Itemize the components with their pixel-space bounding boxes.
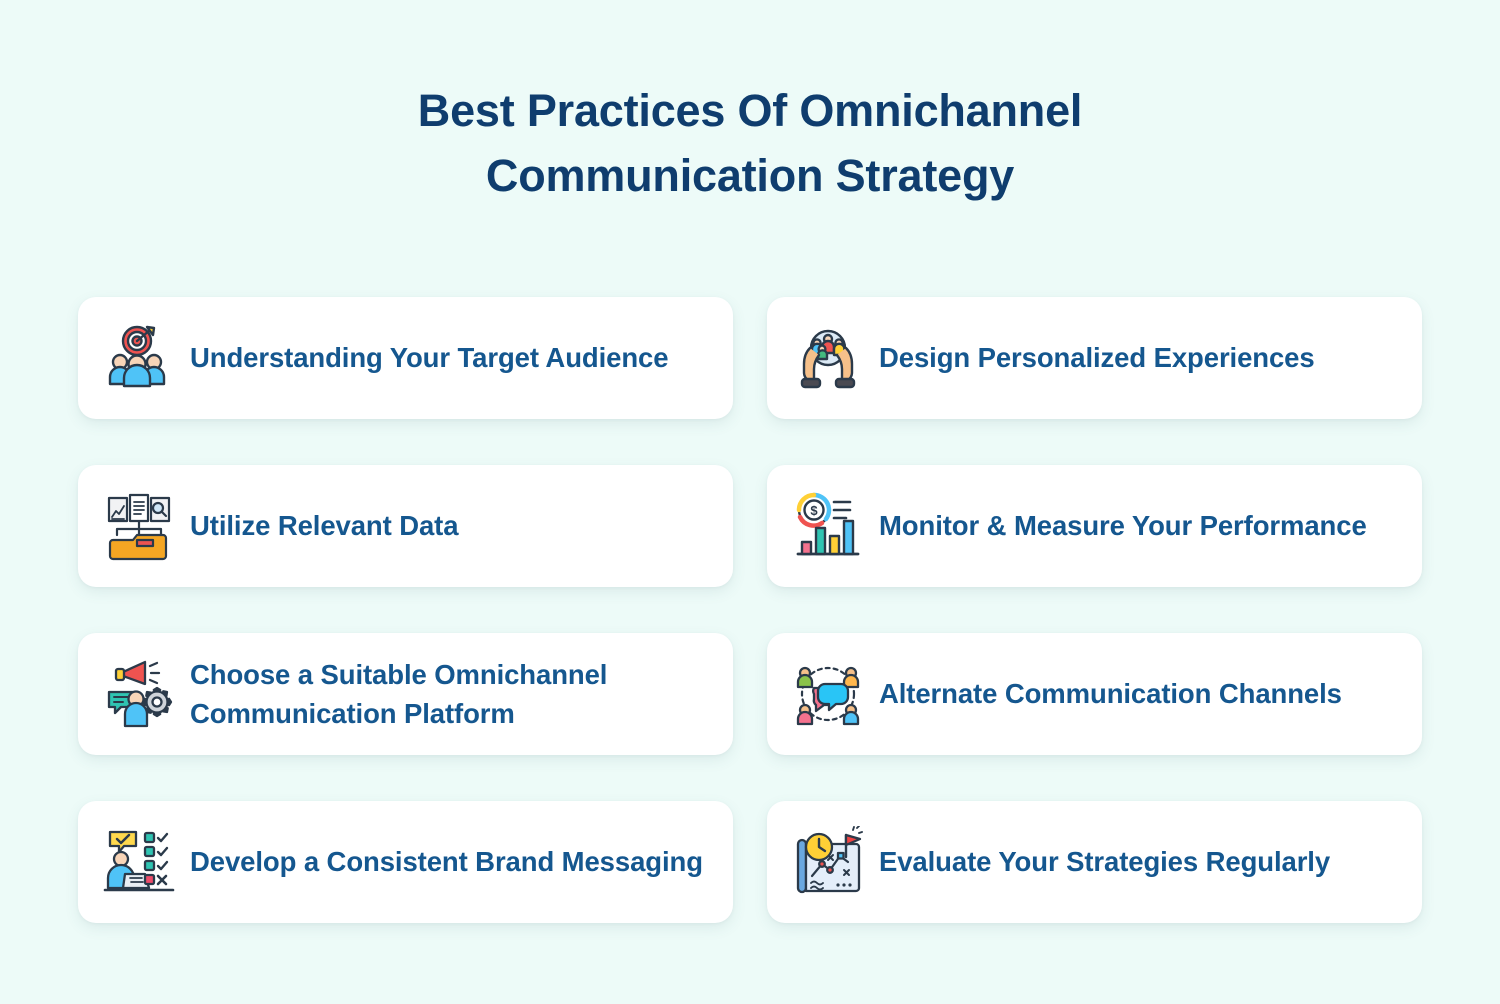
- page-title: Best Practices Of Omnichannel Communicat…: [0, 78, 1500, 209]
- card-develop-a-consistent-brand-messaging[interactable]: Develop a Consistent Brand Messaging: [78, 801, 733, 923]
- card-label: Choose a Suitable Omnichannel Communicat…: [190, 655, 707, 733]
- card-label: Understanding Your Target Audience: [190, 338, 668, 377]
- card-monitor-measure-your-performance[interactable]: $ Monitor & Measure Your Performance: [767, 465, 1422, 587]
- megaphone-chat-gear-icon: [100, 655, 178, 733]
- target-audience-icon: [100, 319, 178, 397]
- person-checklist-icon: [100, 823, 178, 901]
- svg-text:$: $: [810, 503, 818, 518]
- card-choose-a-suitable-omnichannel-communication-platform[interactable]: Choose a Suitable Omnichannel Communicat…: [78, 633, 733, 755]
- card-label: Utilize Relevant Data: [190, 506, 458, 545]
- folder-documents-icon: [100, 487, 178, 565]
- card-label: Alternate Communication Channels: [879, 674, 1342, 713]
- card-label: Evaluate Your Strategies Regularly: [879, 842, 1330, 881]
- cards-grid: Understanding Your Target Audience: [78, 297, 1422, 923]
- people-network-chat-icon: [789, 655, 867, 733]
- strategy-map-clock-icon: [789, 823, 867, 901]
- hands-holding-people-icon: [789, 319, 867, 397]
- card-design-personalized-experiences[interactable]: Design Personalized Experiences: [767, 297, 1422, 419]
- analytics-chart-icon: $: [789, 487, 867, 565]
- card-utilize-relevant-data[interactable]: Utilize Relevant Data: [78, 465, 733, 587]
- card-label: Develop a Consistent Brand Messaging: [190, 842, 703, 881]
- card-alternate-communication-channels[interactable]: Alternate Communication Channels: [767, 633, 1422, 755]
- infographic-page: Best Practices Of Omnichannel Communicat…: [0, 0, 1500, 1004]
- card-label: Monitor & Measure Your Performance: [879, 506, 1367, 545]
- card-understanding-your-target-audience[interactable]: Understanding Your Target Audience: [78, 297, 733, 419]
- card-label: Design Personalized Experiences: [879, 338, 1315, 377]
- card-evaluate-your-strategies-regularly[interactable]: Evaluate Your Strategies Regularly: [767, 801, 1422, 923]
